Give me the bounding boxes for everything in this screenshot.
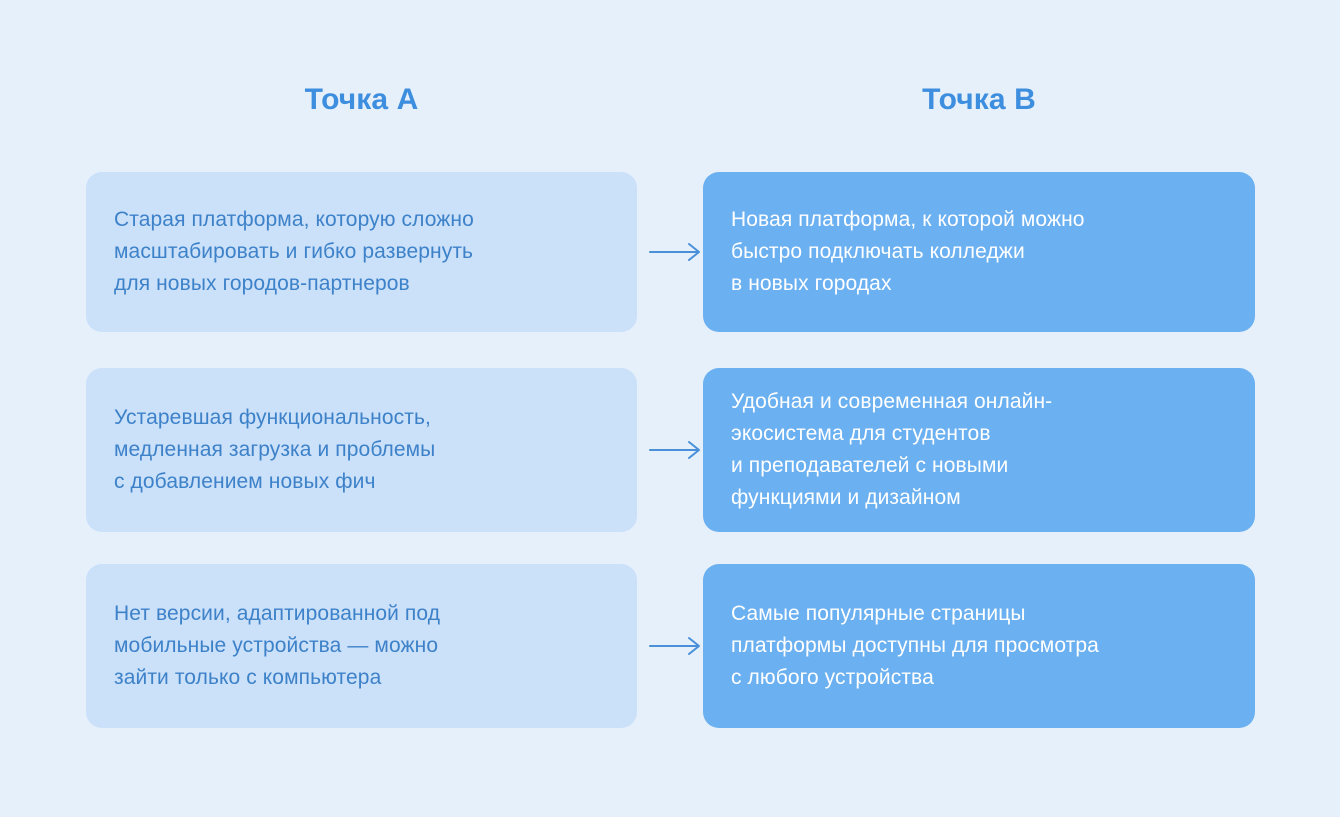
comparison-row: Старая платформа, которую сложно масштаб… <box>0 172 1340 332</box>
before-card: Нет версии, адаптированной под мобильные… <box>86 564 637 728</box>
comparison-row: Устаревшая функциональность, медленная з… <box>0 368 1340 532</box>
comparison-rows: Старая платформа, которую сложно масштаб… <box>0 0 1340 817</box>
comparison-row: Нет версии, адаптированной под мобильные… <box>0 564 1340 728</box>
after-card-text: Самые популярные страницы платформы дост… <box>731 598 1099 694</box>
after-card-text: Новая платформа, к которой можно быстро … <box>731 204 1085 300</box>
arrow-right-icon <box>648 438 704 462</box>
after-card: Новая платформа, к которой можно быстро … <box>703 172 1255 332</box>
arrow-right-icon <box>648 240 704 264</box>
before-card-text: Старая платформа, которую сложно масштаб… <box>114 204 474 300</box>
arrow-right-icon <box>648 634 704 658</box>
after-card: Удобная и современная онлайн- экосистема… <box>703 368 1255 532</box>
before-card: Старая платформа, которую сложно масштаб… <box>86 172 637 332</box>
comparison-diagram: Точка А Точка В Старая платформа, котору… <box>0 0 1340 817</box>
after-card-text: Удобная и современная онлайн- экосистема… <box>731 386 1052 514</box>
after-card: Самые популярные страницы платформы дост… <box>703 564 1255 728</box>
before-card: Устаревшая функциональность, медленная з… <box>86 368 637 532</box>
before-card-text: Нет версии, адаптированной под мобильные… <box>114 598 440 694</box>
before-card-text: Устаревшая функциональность, медленная з… <box>114 402 435 498</box>
